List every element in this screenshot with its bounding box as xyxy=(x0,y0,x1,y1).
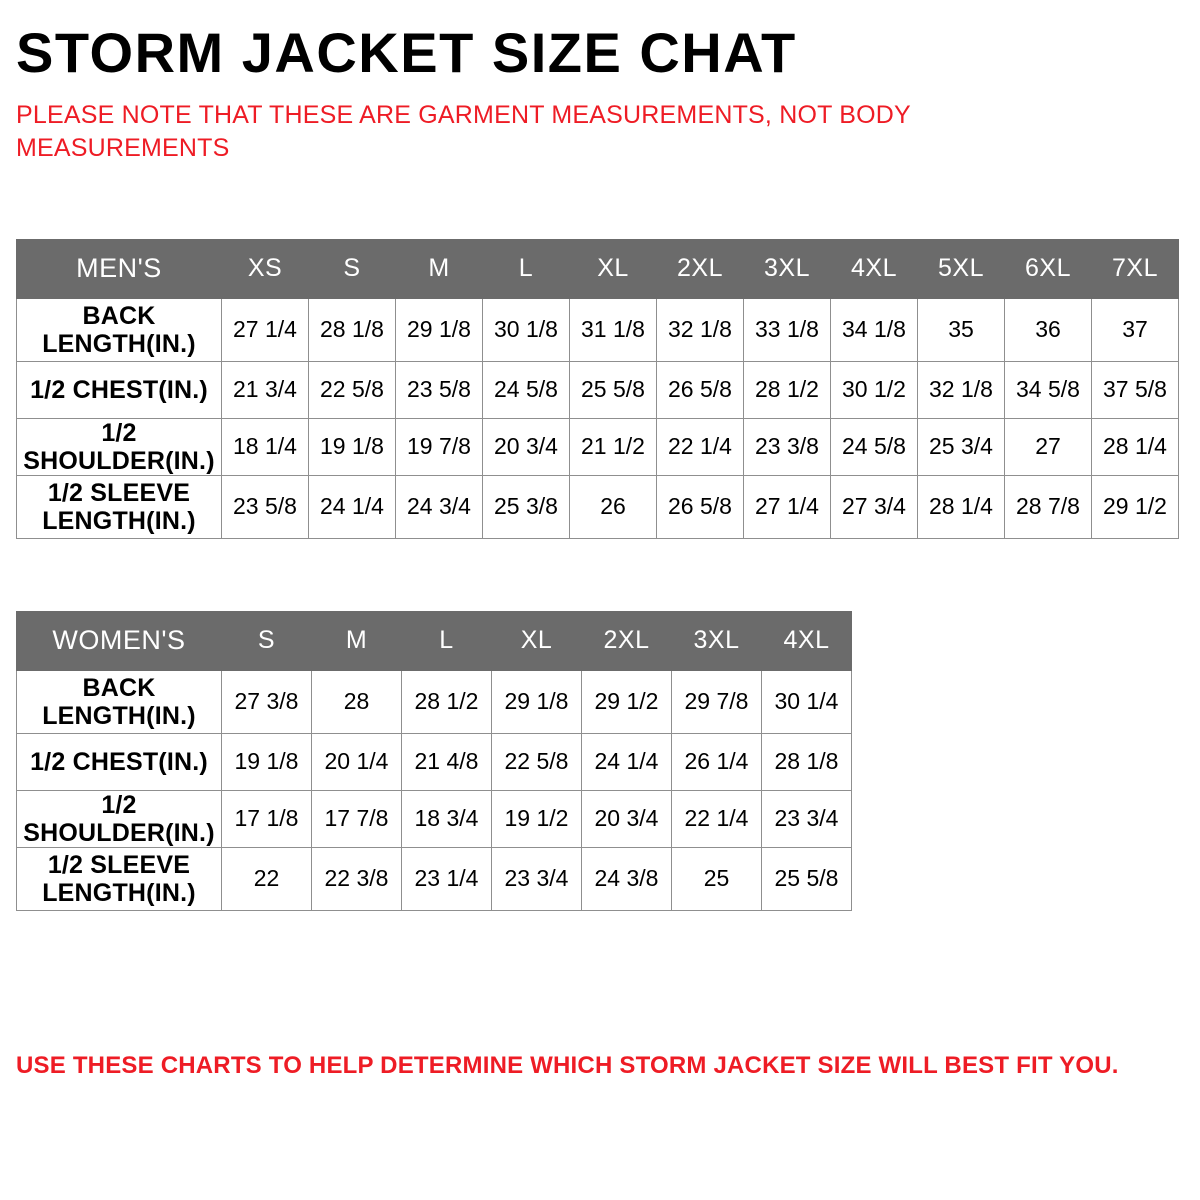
page-title: STORM JACKET SIZE CHAT xyxy=(0,0,1200,83)
womens-row-label: 1/2 CHEST(IN.) xyxy=(17,733,222,790)
mens-size-table-wrapper: MEN'SXSSMLXL2XL3XL4XL5XL6XL7XL BACK LENG… xyxy=(0,239,1200,539)
measurement-cell: 29 7/8 xyxy=(672,670,762,733)
mens-header-label: MEN'S xyxy=(17,239,222,298)
measurement-cell: 23 1/4 xyxy=(402,847,492,910)
measurement-cell: 18 1/4 xyxy=(222,418,309,475)
mens-size-header-5xl: 5XL xyxy=(918,239,1005,298)
measurement-cell: 28 1/4 xyxy=(1092,418,1179,475)
table-row: 1/2 CHEST(IN.)21 3/422 5/823 5/824 5/825… xyxy=(17,361,1179,418)
womens-header-label: WOMEN'S xyxy=(17,611,222,670)
measurement-cell: 17 1/8 xyxy=(222,790,312,847)
measurement-cell: 19 1/2 xyxy=(492,790,582,847)
mens-table-body: BACK LENGTH(IN.)27 1/428 1/829 1/830 1/8… xyxy=(17,298,1179,538)
mens-size-table: MEN'SXSSMLXL2XL3XL4XL5XL6XL7XL BACK LENG… xyxy=(16,239,1179,539)
measurement-cell: 27 3/4 xyxy=(831,475,918,538)
measurement-cell: 22 5/8 xyxy=(309,361,396,418)
measurement-cell: 21 4/8 xyxy=(402,733,492,790)
measurement-cell: 24 3/4 xyxy=(396,475,483,538)
mens-size-header-l: L xyxy=(483,239,570,298)
mens-row-label: 1/2 CHEST(IN.) xyxy=(17,361,222,418)
measurement-cell: 29 1/8 xyxy=(492,670,582,733)
measurement-cell: 25 xyxy=(672,847,762,910)
measurement-cell: 22 3/8 xyxy=(312,847,402,910)
measurement-cell: 36 xyxy=(1005,298,1092,361)
measurement-cell: 35 xyxy=(918,298,1005,361)
womens-row-label: 1/2 SHOULDER(IN.) xyxy=(17,790,222,847)
measurement-cell: 27 3/8 xyxy=(222,670,312,733)
table-row: BACK LENGTH(IN.)27 3/82828 1/229 1/829 1… xyxy=(17,670,852,733)
womens-size-header-xl: XL xyxy=(492,611,582,670)
measurement-cell: 29 1/2 xyxy=(1092,475,1179,538)
measurement-cell: 29 1/8 xyxy=(396,298,483,361)
measurement-cell: 34 1/8 xyxy=(831,298,918,361)
measurement-cell: 22 5/8 xyxy=(492,733,582,790)
mens-size-header-4xl: 4XL xyxy=(831,239,918,298)
measurement-cell: 24 3/8 xyxy=(582,847,672,910)
measurement-cell: 23 5/8 xyxy=(396,361,483,418)
measurement-cell: 30 1/8 xyxy=(483,298,570,361)
mens-size-header-xs: XS xyxy=(222,239,309,298)
measurement-cell: 32 1/8 xyxy=(918,361,1005,418)
table-row: 1/2 CHEST(IN.)19 1/820 1/421 4/822 5/824… xyxy=(17,733,852,790)
measurement-cell: 37 5/8 xyxy=(1092,361,1179,418)
measurement-cell: 23 3/8 xyxy=(744,418,831,475)
measurement-cell: 33 1/8 xyxy=(744,298,831,361)
measurement-cell: 28 1/4 xyxy=(918,475,1005,538)
size-chart-page: STORM JACKET SIZE CHAT PLEASE NOTE THAT … xyxy=(0,0,1200,1200)
table-row: 1/2 SLEEVE LENGTH(IN.)23 5/824 1/424 3/4… xyxy=(17,475,1179,538)
measurement-cell: 24 5/8 xyxy=(483,361,570,418)
measurement-cell: 25 3/8 xyxy=(483,475,570,538)
measurement-cell: 37 xyxy=(1092,298,1179,361)
womens-table-body: BACK LENGTH(IN.)27 3/82828 1/229 1/829 1… xyxy=(17,670,852,910)
measurement-cell: 27 1/4 xyxy=(744,475,831,538)
measurement-cell: 25 5/8 xyxy=(762,847,852,910)
measurement-cell: 28 xyxy=(312,670,402,733)
measurement-cell: 31 1/8 xyxy=(570,298,657,361)
measurement-cell: 21 1/2 xyxy=(570,418,657,475)
womens-size-header-3xl: 3XL xyxy=(672,611,762,670)
measurement-cell: 29 1/2 xyxy=(582,670,672,733)
measurement-cell: 19 1/8 xyxy=(309,418,396,475)
table-row: 1/2 SHOULDER(IN.)18 1/419 1/819 7/820 3/… xyxy=(17,418,1179,475)
measurement-cell: 27 xyxy=(1005,418,1092,475)
measurement-cell: 22 1/4 xyxy=(657,418,744,475)
womens-size-table: WOMEN'SSMLXL2XL3XL4XL BACK LENGTH(IN.)27… xyxy=(16,611,852,911)
measurement-cell: 32 1/8 xyxy=(657,298,744,361)
measurement-cell: 27 1/4 xyxy=(222,298,309,361)
measurement-cell: 23 5/8 xyxy=(222,475,309,538)
table-row: BACK LENGTH(IN.)27 1/428 1/829 1/830 1/8… xyxy=(17,298,1179,361)
measurement-cell: 28 1/8 xyxy=(762,733,852,790)
womens-size-table-wrapper: WOMEN'SSMLXL2XL3XL4XL BACK LENGTH(IN.)27… xyxy=(0,611,1200,911)
womens-table-head: WOMEN'SSMLXL2XL3XL4XL xyxy=(17,611,852,670)
measurement-cell: 28 1/2 xyxy=(744,361,831,418)
mens-header-row: MEN'SXSSMLXL2XL3XL4XL5XL6XL7XL xyxy=(17,239,1179,298)
garment-measurement-note: PLEASE NOTE THAT THESE ARE GARMENT MEASU… xyxy=(0,83,1032,165)
mens-size-header-m: M xyxy=(396,239,483,298)
womens-row-label: BACK LENGTH(IN.) xyxy=(17,670,222,733)
table-row: 1/2 SLEEVE LENGTH(IN.)2222 3/823 1/423 3… xyxy=(17,847,852,910)
measurement-cell: 22 1/4 xyxy=(672,790,762,847)
measurement-cell: 26 5/8 xyxy=(657,361,744,418)
measurement-cell: 30 1/4 xyxy=(762,670,852,733)
measurement-cell: 17 7/8 xyxy=(312,790,402,847)
mens-row-label: BACK LENGTH(IN.) xyxy=(17,298,222,361)
measurement-cell: 24 1/4 xyxy=(582,733,672,790)
measurement-cell: 24 5/8 xyxy=(831,418,918,475)
measurement-cell: 25 5/8 xyxy=(570,361,657,418)
measurement-cell: 23 3/4 xyxy=(492,847,582,910)
measurement-cell: 30 1/2 xyxy=(831,361,918,418)
table-row: 1/2 SHOULDER(IN.)17 1/817 7/818 3/419 1/… xyxy=(17,790,852,847)
measurement-cell: 28 1/8 xyxy=(309,298,396,361)
womens-size-header-l: L xyxy=(402,611,492,670)
womens-row-label: 1/2 SLEEVE LENGTH(IN.) xyxy=(17,847,222,910)
mens-size-header-2xl: 2XL xyxy=(657,239,744,298)
use-charts-note: USE THESE CHARTS TO HELP DETERMINE WHICH… xyxy=(16,1052,1119,1080)
measurement-cell: 22 xyxy=(222,847,312,910)
measurement-cell: 26 xyxy=(570,475,657,538)
mens-size-header-xl: XL xyxy=(570,239,657,298)
womens-size-header-2xl: 2XL xyxy=(582,611,672,670)
measurement-cell: 20 1/4 xyxy=(312,733,402,790)
measurement-cell: 34 5/8 xyxy=(1005,361,1092,418)
measurement-cell: 21 3/4 xyxy=(222,361,309,418)
measurement-cell: 19 1/8 xyxy=(222,733,312,790)
measurement-cell: 28 1/2 xyxy=(402,670,492,733)
womens-size-header-s: S xyxy=(222,611,312,670)
measurement-cell: 24 1/4 xyxy=(309,475,396,538)
mens-size-header-6xl: 6XL xyxy=(1005,239,1092,298)
measurement-cell: 19 7/8 xyxy=(396,418,483,475)
mens-row-label: 1/2 SHOULDER(IN.) xyxy=(17,418,222,475)
mens-row-label: 1/2 SLEEVE LENGTH(IN.) xyxy=(17,475,222,538)
measurement-cell: 25 3/4 xyxy=(918,418,1005,475)
measurement-cell: 26 5/8 xyxy=(657,475,744,538)
mens-table-head: MEN'SXSSMLXL2XL3XL4XL5XL6XL7XL xyxy=(17,239,1179,298)
measurement-cell: 20 3/4 xyxy=(483,418,570,475)
womens-header-row: WOMEN'SSMLXL2XL3XL4XL xyxy=(17,611,852,670)
measurement-cell: 20 3/4 xyxy=(582,790,672,847)
mens-size-header-s: S xyxy=(309,239,396,298)
measurement-cell: 18 3/4 xyxy=(402,790,492,847)
mens-size-header-7xl: 7XL xyxy=(1092,239,1179,298)
measurement-cell: 28 7/8 xyxy=(1005,475,1092,538)
womens-size-header-4xl: 4XL xyxy=(762,611,852,670)
measurement-cell: 23 3/4 xyxy=(762,790,852,847)
womens-size-header-m: M xyxy=(312,611,402,670)
mens-size-header-3xl: 3XL xyxy=(744,239,831,298)
measurement-cell: 26 1/4 xyxy=(672,733,762,790)
